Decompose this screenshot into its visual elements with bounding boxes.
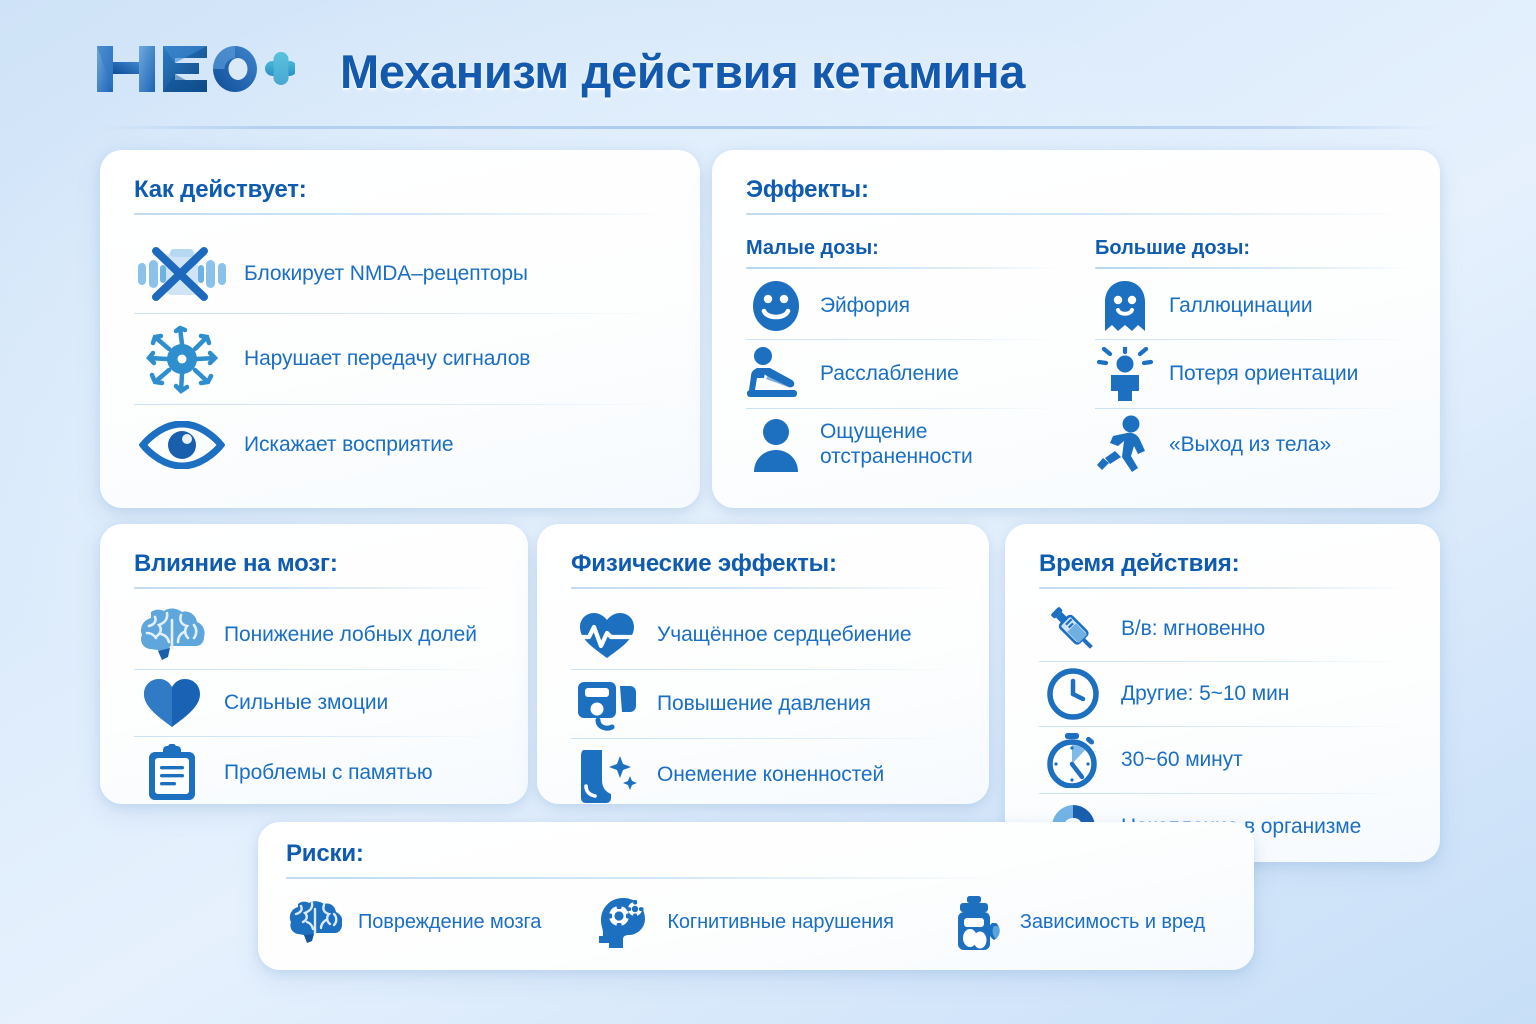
list-item: Зависимость и вред xyxy=(948,895,1205,951)
list-item: Расслабление xyxy=(746,340,1061,408)
list-item: Проблемы с памятью xyxy=(134,737,498,809)
list-item-label: Нарушает передачу сигналов xyxy=(244,347,530,372)
blood-pressure-monitor-icon xyxy=(571,676,643,732)
list-item: Учащённое сердцебиение xyxy=(571,601,959,669)
list-item-label: Галлюцинации xyxy=(1169,294,1312,319)
list-item: «Выход из тела» xyxy=(1095,409,1410,481)
list-item-label: Повреждение мозга xyxy=(358,911,541,935)
running-person-icon xyxy=(1095,415,1155,475)
card-title-duration: Время действия: xyxy=(1039,550,1410,578)
list-item: Блокирует NMDA–рецепторы xyxy=(134,235,670,313)
list-item: Ощущение отстраненности xyxy=(746,409,1061,481)
divider xyxy=(746,267,1061,269)
stopwatch-icon xyxy=(1039,732,1107,788)
list-item-label: Потеря ориентации xyxy=(1169,362,1358,387)
syringe-icon xyxy=(1039,601,1107,657)
card-physical-effects: Физические эффекты: Учащённое сердцебиен… xyxy=(537,524,989,804)
list-item: Потеря ориентации xyxy=(1095,340,1410,408)
card-title-brain-impact: Влияние на мозг: xyxy=(134,550,498,578)
list-item-label: Искажает восприятие xyxy=(244,433,453,458)
card-title-how-it-works: Как действует: xyxy=(134,176,670,204)
card-title-effects: Эффекты: xyxy=(746,176,1410,204)
list-item-label: Повышение давления xyxy=(657,692,871,717)
divider xyxy=(286,877,1006,879)
heart-icon xyxy=(134,677,210,729)
list-item: Когнитивные нарушения xyxy=(595,896,894,950)
list-item: 30~60 минут xyxy=(1039,727,1410,793)
person-reclining-icon xyxy=(746,346,806,402)
list-item-label: Когнитивные нарушения xyxy=(667,911,894,935)
list-item-label: Ощущение отстраненности xyxy=(820,420,1061,470)
eye-icon xyxy=(134,421,230,469)
clock-icon xyxy=(1039,668,1107,720)
list-item-label: Учащённое сердцебиение xyxy=(657,623,911,648)
card-title-risks: Риски: xyxy=(286,840,1230,868)
ghost-icon xyxy=(1095,279,1155,333)
neo-plus-logo xyxy=(95,40,295,102)
disoriented-person-icon xyxy=(1095,347,1155,401)
list-item: Другие: 5~10 мин xyxy=(1039,662,1410,726)
card-risks: Риски: xyxy=(258,822,1254,970)
list-item-label: Другие: 5~10 мин xyxy=(1121,682,1289,707)
list-item-label: 30~60 минут xyxy=(1121,748,1243,773)
card-effects: Эффекты: Малые дозы: Эйфория xyxy=(712,150,1440,508)
divider xyxy=(571,587,959,589)
list-item: Повреждение мозга xyxy=(286,899,541,947)
list-item-label: Проблемы с памятью xyxy=(224,761,433,786)
list-item-label: Сильные змоции xyxy=(224,691,388,716)
list-item-label: «Выход из тела» xyxy=(1169,433,1331,458)
divider xyxy=(134,587,498,589)
card-brain-impact: Влияние на мозг: xyxy=(100,524,528,804)
divider xyxy=(746,213,1410,215)
divider xyxy=(134,213,670,215)
page-header: Механизм действия кетамина xyxy=(0,0,1536,128)
list-item: Нарушает передачу сигналов xyxy=(134,314,670,404)
list-item: Эйфория xyxy=(746,273,1061,339)
list-item-label: Понижение лобных долей xyxy=(224,623,477,648)
list-item-label: Блокирует NMDA–рецепторы xyxy=(244,262,528,287)
divider xyxy=(1095,267,1410,269)
nmda-receptor-blocked-icon xyxy=(134,245,230,303)
divider xyxy=(1039,587,1410,589)
card-how-it-works: Как действует: xyxy=(100,150,700,508)
head-gears-icon xyxy=(595,896,653,950)
list-item: Онемение коненностей xyxy=(571,739,959,811)
person-silhouette-icon xyxy=(746,418,806,472)
smiley-face-icon xyxy=(746,280,806,332)
heart-pulse-icon xyxy=(571,610,643,660)
card-duration: Время действия: xyxy=(1005,524,1440,862)
list-item: Искажает восприятие xyxy=(134,405,670,485)
effects-column-high-dose: Большие дозы: Галлюцинации xyxy=(1095,237,1410,481)
list-item-label: Расслабление xyxy=(820,362,959,387)
effects-column-low-dose: Малые дозы: Эйфория xyxy=(746,237,1061,481)
list-item: Галлюцинации xyxy=(1095,273,1410,339)
brain-damage-icon xyxy=(286,899,344,947)
list-item-label: Эйфория xyxy=(820,294,910,319)
clipboard-icon xyxy=(134,744,210,802)
list-item: Сильные змоции xyxy=(134,670,498,736)
brain-icon xyxy=(134,608,210,662)
list-item-label: Зависимость и вред xyxy=(1020,911,1205,935)
list-item: Повышение давления xyxy=(571,670,959,738)
subtitle-high-dose: Большие дозы: xyxy=(1095,237,1410,260)
neuron-icon xyxy=(134,323,230,395)
list-item-label: В/в: мгновенно xyxy=(1121,617,1265,642)
list-item-label: Онемение коненностей xyxy=(657,763,884,788)
pill-bottle-icon xyxy=(948,895,1006,951)
list-item: Понижение лобных долей xyxy=(134,601,498,669)
page-title: Механизм действия кетамина xyxy=(340,44,1025,99)
list-item: В/в: мгновенно xyxy=(1039,597,1410,661)
header-divider xyxy=(100,126,1440,129)
subtitle-low-dose: Малые дозы: xyxy=(746,237,1061,260)
card-title-physical-effects: Физические эффекты: xyxy=(571,550,959,578)
numb-foot-icon xyxy=(571,746,643,804)
